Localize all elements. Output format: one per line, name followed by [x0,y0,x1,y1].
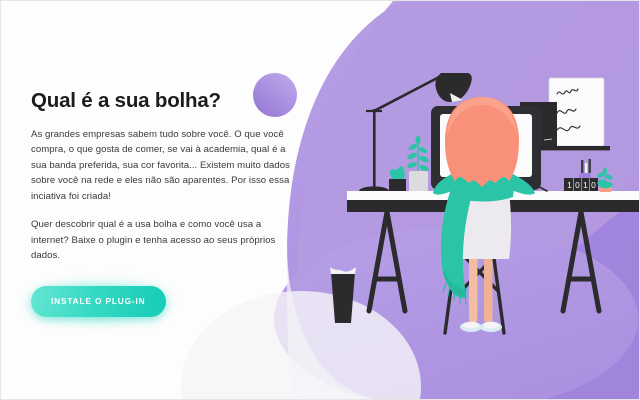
clock-digit: 1 [583,180,588,190]
paragraph-secondary: Quer descobrir qual é a usa bolha e como… [31,217,293,264]
install-plugin-button[interactable]: INSTALE O PLUG-IN [31,286,166,317]
clock-digit: 1 [567,180,572,190]
landing-page: 1 0 1 0 [0,0,640,400]
clock-digit: 0 [575,180,580,190]
flip-clock-icon: 1 0 1 0 [564,178,598,191]
paragraph-main: As grandes empresas sabem tudo sobre voc… [31,127,293,205]
small-cactus-icon [389,166,406,194]
cta-wrapper: INSTALE O PLUG-IN [31,286,166,317]
hero-content: Qual é a sua bolha? As grandes empresas … [31,89,293,317]
clock-digit: 0 [591,180,596,190]
page-title: Qual é a sua bolha? [31,89,293,113]
